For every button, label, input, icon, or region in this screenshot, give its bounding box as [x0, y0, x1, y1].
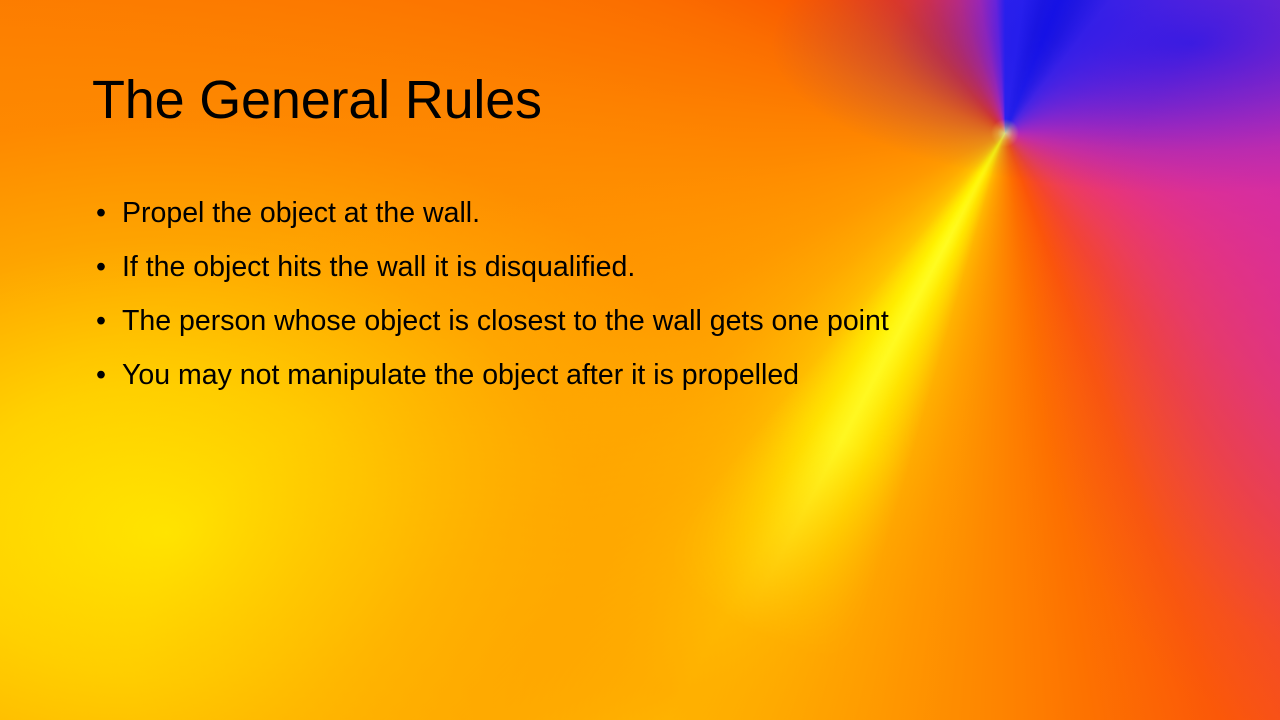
bullet-marker-icon: •	[96, 248, 122, 286]
bullet-text: If the object hits the wall it is disqua…	[122, 248, 635, 286]
bullet-list: • Propel the object at the wall. • If th…	[96, 194, 1196, 410]
slide-canvas: The General Rules • Propel the object at…	[0, 0, 1280, 720]
slide-title: The General Rules	[92, 72, 542, 129]
bullet-marker-icon: •	[96, 194, 122, 232]
bullet-marker-icon: •	[96, 302, 122, 340]
bullet-text: The person whose object is closest to th…	[122, 302, 889, 340]
bullet-item: • Propel the object at the wall.	[96, 194, 1196, 248]
bullet-item: • If the object hits the wall it is disq…	[96, 248, 1196, 302]
bullet-item: • The person whose object is closest to …	[96, 302, 1196, 356]
bullet-marker-icon: •	[96, 356, 122, 394]
bullet-text: You may not manipulate the object after …	[122, 356, 799, 394]
slide-content: The General Rules • Propel the object at…	[0, 0, 1280, 720]
bullet-item: • You may not manipulate the object afte…	[96, 356, 1196, 410]
bullet-text: Propel the object at the wall.	[122, 194, 480, 232]
